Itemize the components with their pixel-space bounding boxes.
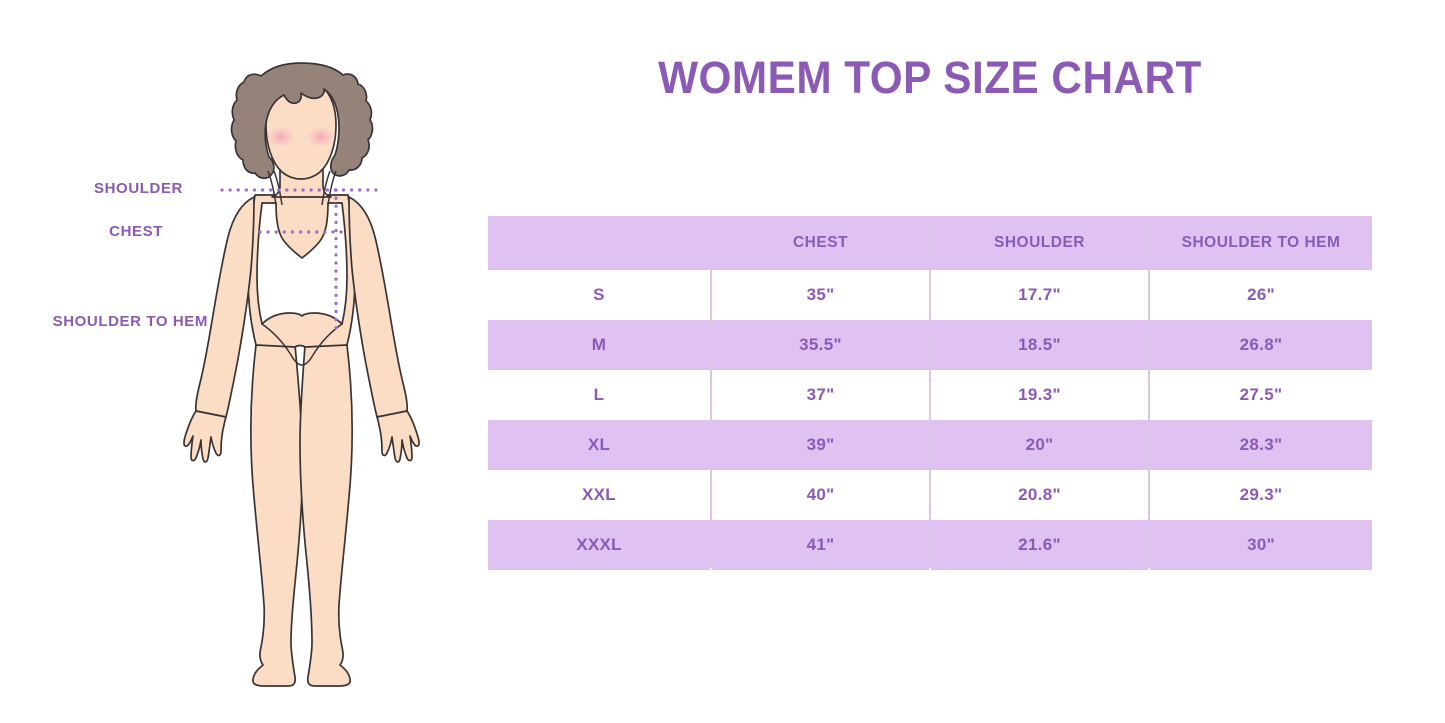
cell-chest: 39" [711,420,930,470]
cell-size: L [488,370,711,420]
column-header-chest: CHEST [711,216,930,270]
table-row: XXXL 41" 21.6" 30" [488,520,1372,570]
table-row: XL 39" 20" 28.3" [488,420,1372,470]
cell-shoulder-to-hem: 26" [1149,270,1372,320]
left-hand [184,411,226,462]
cell-shoulder-to-hem: 30" [1149,520,1372,570]
table-row: XXL 40" 20.8" 29.3" [488,470,1372,520]
size-chart-page: WOMEM TOP SIZE CHART SHOULDER CHEST SHOU… [0,0,1445,723]
table-header: CHEST SHOULDER SHOULDER TO HEM [488,216,1372,270]
female-figure-illustration [150,45,450,690]
cell-size: S [488,270,711,320]
cell-chest: 40" [711,470,930,520]
cell-shoulder: 20.8" [930,470,1149,520]
table-body: S 35" 17.7" 26" M 35.5" 18.5" 26.8" L 37… [488,270,1372,570]
page-title: WOMEM TOP SIZE CHART [515,52,1346,104]
right-leg [300,345,352,686]
size-table-container: CHEST SHOULDER SHOULDER TO HEM S 35" 17.… [488,216,1372,568]
table-row: L 37" 19.3" 27.5" [488,370,1372,420]
column-header-size [488,216,711,270]
right-arm [349,197,407,417]
cell-size: XXL [488,470,711,520]
table-row: S 35" 17.7" 26" [488,270,1372,320]
table-row: M 35.5" 18.5" 26.8" [488,320,1372,370]
cell-shoulder: 18.5" [930,320,1149,370]
right-cheek-blush [306,126,336,148]
measurement-label-chest: CHEST [0,223,163,240]
left-arm [196,197,254,417]
cell-shoulder-to-hem: 29.3" [1149,470,1372,520]
cell-shoulder: 20" [930,420,1149,470]
figure-body-group [184,79,419,686]
left-leg [251,345,303,686]
column-header-shoulder: SHOULDER [930,216,1149,270]
cell-size: XXXL [488,520,711,570]
cell-chest: 41" [711,520,930,570]
cell-size: M [488,320,711,370]
right-hand [377,411,419,462]
cell-size: XL [488,420,711,470]
cell-shoulder-to-hem: 28.3" [1149,420,1372,470]
croquis-svg [150,45,450,690]
cell-shoulder-to-hem: 27.5" [1149,370,1372,420]
size-table: CHEST SHOULDER SHOULDER TO HEM S 35" 17.… [488,216,1372,570]
cell-chest: 35.5" [711,320,930,370]
cell-chest: 35" [711,270,930,320]
cell-shoulder-to-hem: 26.8" [1149,320,1372,370]
column-header-shoulder-to-hem: SHOULDER TO HEM [1149,216,1372,270]
table-header-row: CHEST SHOULDER SHOULDER TO HEM [488,216,1372,270]
cell-chest: 37" [711,370,930,420]
left-cheek-blush [266,126,296,148]
cell-shoulder: 17.7" [930,270,1149,320]
cell-shoulder: 21.6" [930,520,1149,570]
cell-shoulder: 19.3" [930,370,1149,420]
